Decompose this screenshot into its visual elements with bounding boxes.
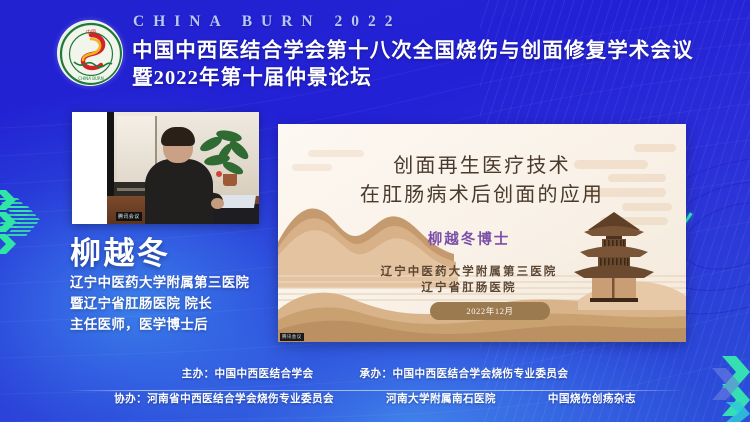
slide-title: 创面再生医疗技术 在肛肠病术后创面的应用 <box>278 152 686 210</box>
svg-text:中国: 中国 <box>86 29 96 36</box>
slide-date-badge: 2022年12月 <box>430 302 550 320</box>
chevron-arrows-decor-icon <box>0 182 68 260</box>
credit-organizer: 承办：中国中西医结合学会烧伤专业委员会 <box>360 366 569 381</box>
credit-journal: 中国烧伤创疡杂志 <box>548 391 636 406</box>
video-watermark: 腾讯会议 <box>116 212 142 221</box>
event-title-line2: 暨2022年第十届仲景论坛 <box>132 60 372 90</box>
credit-host: 主办：中国中西医结合学会 <box>182 366 314 381</box>
speaker-affiliation-line2: 暨辽宁省肛肠医院 院长 <box>70 293 300 314</box>
speaker-name: 柳越冬 <box>70 228 171 273</box>
speaker-affiliation: 辽宁中医药大学附属第三医院 暨辽宁省肛肠医院 院长 主任医师，医学博士后 <box>70 272 300 335</box>
video-content: 腾讯会议 <box>107 112 259 224</box>
credits-row-organizers: 主办：中国中西医结合学会 承办：中国中西医结合学会烧伤专业委员会 <box>0 366 750 381</box>
video-person-hand <box>211 198 224 209</box>
slide-organization: 辽宁中医药大学附属第三医院 辽宁省肛肠医院 <box>278 264 660 296</box>
slide-toolbar-watermark: 腾讯会议 <box>280 333 304 341</box>
slide-org-line2: 辽宁省肛肠医院 <box>278 280 660 296</box>
event-kicker: CHINA BURN 2022 <box>133 13 401 31</box>
credit-hospital: 河南大学附属南石医院 <box>386 391 496 406</box>
event-title-line1: 中国中西医结合学会第十八次全国烧伤与创面修复学术会议 <box>132 33 694 63</box>
credits-footer: 主办：中国中西医结合学会 承办：中国中西医结合学会烧伤专业委员会 协办：河南省中… <box>0 366 750 406</box>
slide-title-line2: 在肛肠病术后创面的应用 <box>278 181 686 210</box>
credit-co-organizer: 协办：河南省中西医结合学会烧伤专业委员会 <box>114 391 334 406</box>
video-flower-pot <box>223 174 237 186</box>
speaker-affiliation-line3: 主任医师，医学博士后 <box>70 314 300 335</box>
event-header: 中国 CHINA BURN CHINA BURN 2022 中国中西医结合学会第… <box>0 0 750 100</box>
speaker-video-feed[interactable]: 腾讯会议 <box>72 112 259 224</box>
china-burn-association-emblem-icon: 中国 CHINA BURN <box>57 20 123 86</box>
credits-row-coorganizers: 协办：河南省中西医结合学会烧伤专业委员会 河南大学附属南石医院 中国烧伤创疡杂志 <box>0 381 750 406</box>
presentation-slide[interactable]: 创面再生医疗技术 在肛肠病术后创面的应用 柳越冬博士 辽宁中医药大学附属第三医院… <box>278 124 686 342</box>
credits-divider <box>66 390 686 391</box>
slide-presenter-name: 柳越冬博士 <box>278 228 660 249</box>
svg-text:CHINA BURN: CHINA BURN <box>78 76 103 81</box>
speaker-affiliation-line1: 辽宁中医药大学附属第三医院 <box>70 272 300 293</box>
broadcast-stage: 中国 CHINA BURN CHINA BURN 2022 中国中西医结合学会第… <box>0 0 750 422</box>
slide-title-line1: 创面再生医疗技术 <box>278 152 686 181</box>
video-person-hair <box>161 127 195 146</box>
slide-org-line1: 辽宁中医药大学附属第三医院 <box>278 264 660 280</box>
